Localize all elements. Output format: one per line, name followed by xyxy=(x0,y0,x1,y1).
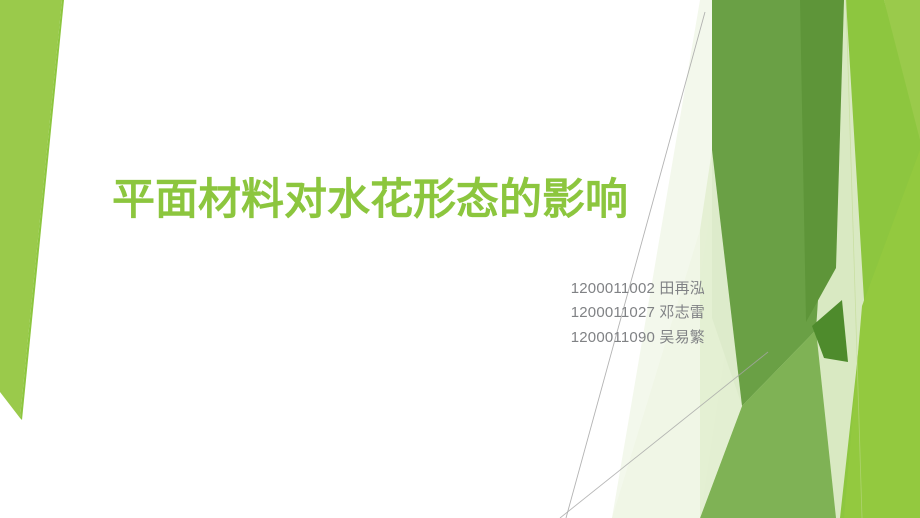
subtitle-placeholder[interactable]: 1200011002 田再泓 1200011027 邓志雷 1200011090… xyxy=(305,277,705,350)
facet-lime-band-shape xyxy=(840,0,920,518)
facet-lime-lower-shape xyxy=(844,150,920,518)
facet-dark-notch-shape xyxy=(812,300,848,362)
facet-lime-edge-shape xyxy=(884,0,920,140)
left-decorative-wedge-group xyxy=(0,0,920,518)
hairline-diagonal-long xyxy=(566,12,705,518)
facet-mint-paler-shape xyxy=(664,0,920,518)
hairline-diagonal-bottom xyxy=(560,352,768,518)
facet-mint-bottom-shape xyxy=(612,230,700,518)
subtitle-line-3: 1200011090 吴易繁 xyxy=(305,326,705,350)
left-lime-wedge-shape-outer xyxy=(20,0,64,420)
subtitle-line-2: 1200011027 邓志雷 xyxy=(305,301,705,325)
facet-sage-dark-shape xyxy=(800,0,844,322)
facet-mint-pale-shape xyxy=(700,0,920,518)
title-slide: 平面材料对水花形态的影响 1200011002 田再泓 1200011027 邓… xyxy=(0,0,920,518)
hairline-lime-band xyxy=(846,0,862,518)
facet-sage-main-shape xyxy=(712,0,838,406)
title-placeholder[interactable]: 平面材料对水花形态的影响 xyxy=(112,176,712,226)
left-lime-wedge-shape xyxy=(0,0,62,418)
right-decorative-facet-group xyxy=(0,0,920,518)
subtitle-line-1: 1200011002 田再泓 xyxy=(305,277,705,301)
facet-sage-tail-shape xyxy=(700,330,836,518)
facet-mint-lightest-shape xyxy=(612,0,920,518)
page-title[interactable]: 平面材料对水花形态的影响 xyxy=(112,176,712,226)
